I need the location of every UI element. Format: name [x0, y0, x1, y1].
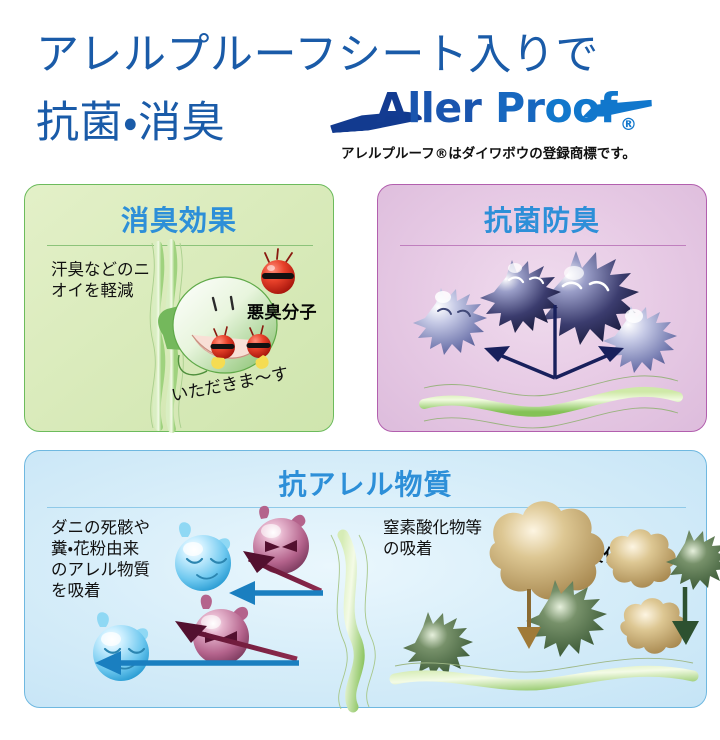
nox-particle-1-icon	[666, 530, 720, 590]
fiber-strand-left-icon	[331, 535, 375, 709]
panel-antiallergen: 抗アレル物質 ダニの死骸や 糞・花粉由来 のアレル物質 を吸着 窒素酸化物等 の…	[24, 450, 707, 708]
odor-molecule-label: 悪臭分子	[247, 298, 317, 323]
arrow-head-left-icon	[484, 346, 510, 362]
antibacterial-illustration	[378, 185, 708, 433]
logo-letters-pr: Pr	[495, 84, 544, 132]
headline-line-2: 抗菌・消臭	[36, 88, 225, 150]
headline-line-1: アレルプルーフシート入りで	[36, 20, 599, 82]
odor-molecule-icon	[261, 249, 295, 294]
logo-wordmark: Aller Proof	[376, 84, 617, 132]
logo-letter-a: A	[376, 84, 407, 132]
germ-dark-medium-icon	[480, 260, 561, 333]
panel-deodorizing: 消臭効果 汗臭などのニ オイを軽減	[24, 184, 334, 432]
antiallergen-illustration	[25, 451, 708, 709]
adsorbed-particle-1-icon	[175, 522, 231, 591]
nox-blob-medium-icon	[606, 529, 675, 588]
germ-light-left-icon	[413, 288, 487, 355]
fiber-strands-icon	[424, 376, 678, 428]
nox-particle-3-icon	[403, 612, 473, 678]
nox-blob-large-icon	[490, 501, 605, 599]
header: アレルプルーフシート入りで 抗菌・消臭 Aller Proof ® アレルプルー…	[0, 0, 720, 178]
aller-proof-logo: Aller Proof ®	[330, 88, 660, 138]
registered-trademark-icon: ®	[620, 115, 637, 135]
logo-letters-ller: ller	[407, 84, 481, 132]
logo-space	[481, 84, 495, 132]
panel-antibacterial: 抗菌防臭	[377, 184, 707, 432]
trademark-note: アレルプルーフ®はダイワボウの登録商標です。	[341, 142, 636, 162]
